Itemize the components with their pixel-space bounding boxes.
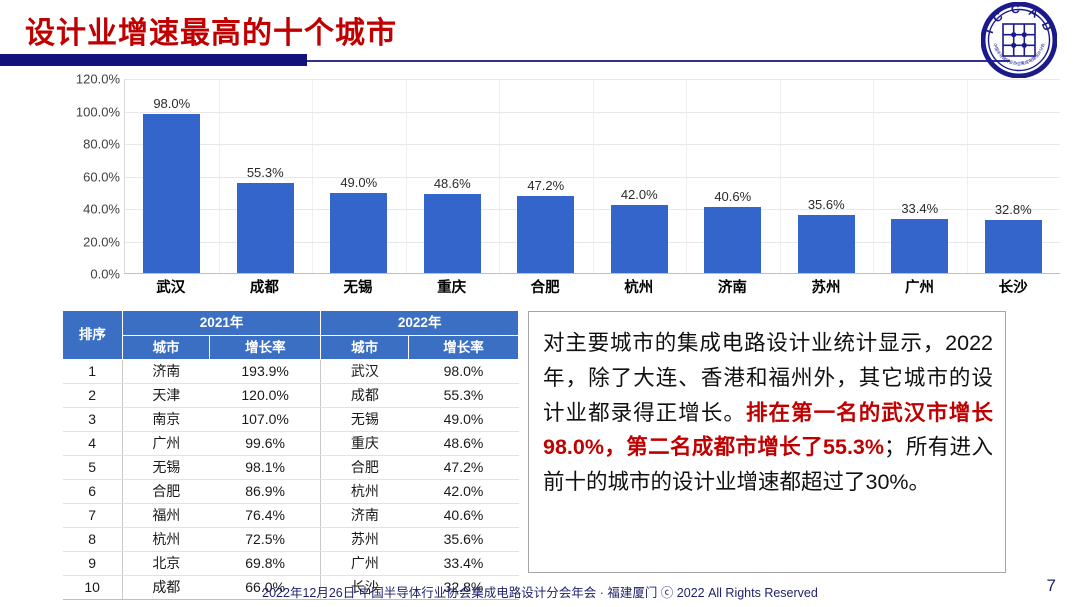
- x-axis-category-label: 杭州: [592, 276, 686, 297]
- table-header-row-2: 城市 增长率 城市 增长率: [63, 335, 519, 360]
- chart-bar-value-label: 48.6%: [434, 176, 471, 191]
- chart-bar-value-label: 33.4%: [901, 201, 938, 216]
- chart-bar-slot: 33.4%: [873, 79, 967, 273]
- x-axis-category-label: 苏州: [779, 276, 873, 297]
- chart-bar-value-label: 47.2%: [527, 178, 564, 193]
- cell-rank: 9: [63, 552, 123, 576]
- cell-city-2022: 武汉: [321, 360, 409, 384]
- table-row: 6合肥86.9%杭州42.0%: [63, 480, 519, 504]
- chart-bar[interactable]: 55.3%: [237, 183, 294, 273]
- y-axis-tick: 40.0%: [83, 202, 120, 217]
- cell-rate-2022: 47.2%: [408, 456, 518, 480]
- chart-bar[interactable]: 33.4%: [891, 219, 948, 273]
- svg-text:I C C A D: I C C A D: [982, 2, 1056, 35]
- chart-bar-value-label: 35.6%: [808, 197, 845, 212]
- page-number: 7: [1047, 576, 1056, 596]
- table-row: 1济南193.9%武汉98.0%: [63, 360, 519, 384]
- cell-rate-2021: 99.6%: [210, 432, 321, 456]
- y-axis-tick: 20.0%: [83, 234, 120, 249]
- cell-city-2021: 天津: [122, 384, 210, 408]
- table-row: 9北京69.8%广州33.4%: [63, 552, 519, 576]
- chart-bar[interactable]: 49.0%: [330, 193, 387, 273]
- chart-bar-slot: 55.3%: [219, 79, 313, 273]
- header-city-2021: 城市: [122, 335, 210, 360]
- y-axis-tick: 0.0%: [90, 267, 120, 282]
- x-axis-labels: 武汉成都无锡重庆合肥杭州济南苏州广州长沙: [124, 276, 1060, 297]
- header-growth-2022: 增长率: [408, 335, 518, 360]
- cell-rank: 3: [63, 408, 123, 432]
- cell-city-2022: 合肥: [321, 456, 409, 480]
- cell-rate-2021: 107.0%: [210, 408, 321, 432]
- table-row: 8杭州72.5%苏州35.6%: [63, 528, 519, 552]
- cell-city-2022: 广州: [321, 552, 409, 576]
- header-rank: 排序: [63, 311, 123, 360]
- x-axis-category-label: 合肥: [498, 276, 592, 297]
- header-rule-thick: [0, 54, 307, 66]
- y-axis-tick: 80.0%: [83, 137, 120, 152]
- x-axis-category-label: 长沙: [966, 276, 1060, 297]
- table-header-row-1: 排序 2021年 2022年: [63, 311, 519, 336]
- chart-bar[interactable]: 48.6%: [424, 194, 481, 273]
- table-row: 5无锡98.1%合肥47.2%: [63, 456, 519, 480]
- y-axis-tick: 120.0%: [76, 72, 120, 87]
- cell-city-2022: 重庆: [321, 432, 409, 456]
- x-axis-category-label: 成都: [218, 276, 312, 297]
- chart-bar-slot: 42.0%: [593, 79, 687, 273]
- chart-bar-value-label: 55.3%: [247, 165, 284, 180]
- cell-rank: 7: [63, 504, 123, 528]
- chart-plot-area: 98.0%55.3%49.0%48.6%47.2%42.0%40.6%35.6%…: [124, 79, 1060, 274]
- cell-rate-2021: 86.9%: [210, 480, 321, 504]
- x-axis-category-label: 无锡: [311, 276, 405, 297]
- y-axis-tick: 100.0%: [76, 104, 120, 119]
- cell-city-2022: 成都: [321, 384, 409, 408]
- cell-rank: 6: [63, 480, 123, 504]
- cell-rate-2022: 98.0%: [408, 360, 518, 384]
- cell-rate-2021: 76.4%: [210, 504, 321, 528]
- chart-bar[interactable]: 42.0%: [611, 205, 668, 273]
- chart-bar[interactable]: 40.6%: [704, 207, 761, 273]
- cell-rank: 1: [63, 360, 123, 384]
- iccad-logo: I C C A D 中国半导体行业协会集成电路设计分会: [981, 2, 1057, 78]
- header-growth-2021: 增长率: [210, 335, 321, 360]
- cell-city-2021: 南京: [122, 408, 210, 432]
- x-axis-category-label: 重庆: [405, 276, 499, 297]
- x-axis-category-label: 武汉: [124, 276, 218, 297]
- x-axis-category-label: 济南: [686, 276, 780, 297]
- cell-city-2021: 无锡: [122, 456, 210, 480]
- cell-rate-2022: 49.0%: [408, 408, 518, 432]
- cell-rate-2021: 98.1%: [210, 456, 321, 480]
- cell-city-2022: 无锡: [321, 408, 409, 432]
- cell-rate-2021: 120.0%: [210, 384, 321, 408]
- cell-city-2021: 杭州: [122, 528, 210, 552]
- cell-rate-2022: 42.0%: [408, 480, 518, 504]
- cell-rate-2022: 35.6%: [408, 528, 518, 552]
- header-year-2022: 2022年: [321, 311, 519, 336]
- chart-bars: 98.0%55.3%49.0%48.6%47.2%42.0%40.6%35.6%…: [125, 79, 1060, 273]
- table-body: 1济南193.9%武汉98.0%2天津120.0%成都55.3%3南京107.0…: [63, 360, 519, 600]
- x-axis-category-label: 广州: [873, 276, 967, 297]
- chart-bar-value-label: 32.8%: [995, 202, 1032, 217]
- cell-rate-2021: 193.9%: [210, 360, 321, 384]
- y-axis-tick: 60.0%: [83, 169, 120, 184]
- table-row: 4广州99.6%重庆48.6%: [63, 432, 519, 456]
- cell-rate-2022: 48.6%: [408, 432, 518, 456]
- cell-city-2021: 合肥: [122, 480, 210, 504]
- chart-bar-value-label: 98.0%: [153, 96, 190, 111]
- cell-city-2021: 北京: [122, 552, 210, 576]
- cell-city-2021: 福州: [122, 504, 210, 528]
- cell-rate-2022: 55.3%: [408, 384, 518, 408]
- chart-bar-value-label: 42.0%: [621, 187, 658, 202]
- chart-bar[interactable]: 32.8%: [985, 220, 1042, 273]
- footer-text: 2022年12月26日 中国半导体行业协会集成电路设计分会年会 · 福建厦门 ⓒ…: [0, 582, 1080, 601]
- cell-rank: 8: [63, 528, 123, 552]
- chart-bar-value-label: 49.0%: [340, 175, 377, 190]
- cell-rank: 2: [63, 384, 123, 408]
- cell-city-2022: 济南: [321, 504, 409, 528]
- header-city-2022: 城市: [321, 335, 409, 360]
- cell-rank: 4: [63, 432, 123, 456]
- cell-rate-2022: 40.6%: [408, 504, 518, 528]
- chart-bar-slot: 32.8%: [967, 79, 1061, 273]
- chart-bar[interactable]: 98.0%: [143, 114, 200, 273]
- table-row: 7福州76.4%济南40.6%: [63, 504, 519, 528]
- chart-bar[interactable]: 35.6%: [798, 215, 855, 273]
- cell-city-2022: 杭州: [321, 480, 409, 504]
- cell-rate-2021: 69.8%: [210, 552, 321, 576]
- header-year-2021: 2021年: [122, 311, 321, 336]
- chart-bar-slot: 47.2%: [499, 79, 593, 273]
- table-row: 2天津120.0%成都55.3%: [63, 384, 519, 408]
- cell-rank: 5: [63, 456, 123, 480]
- chart-bar-value-label: 40.6%: [714, 189, 751, 204]
- growth-bar-chart: 0.0%20.0%40.0%60.0%80.0%100.0%120.0% 98.…: [56, 74, 1060, 302]
- chart-bar[interactable]: 47.2%: [517, 196, 574, 273]
- table-row: 3南京107.0%无锡49.0%: [63, 408, 519, 432]
- chart-bar-slot: 35.6%: [780, 79, 874, 273]
- cell-rate-2022: 33.4%: [408, 552, 518, 576]
- cell-rate-2021: 72.5%: [210, 528, 321, 552]
- ranking-table: 排序 2021年 2022年 城市 增长率 城市 增长率 1济南193.9%武汉…: [62, 310, 519, 600]
- table-head: 排序 2021年 2022年 城市 增长率 城市 增长率: [63, 311, 519, 360]
- page-title: 设计业增速最高的十个城市: [25, 8, 397, 52]
- chart-bar-slot: 98.0%: [125, 79, 219, 273]
- commentary-paragraph: 对主要城市的集成电路设计业统计显示，2022年，除了大连、香港和福州外，其它城市…: [543, 326, 993, 500]
- cell-city-2021: 济南: [122, 360, 210, 384]
- commentary-textbox: 对主要城市的集成电路设计业统计显示，2022年，除了大连、香港和福州外，其它城市…: [528, 311, 1006, 573]
- y-axis-labels: 0.0%20.0%40.0%60.0%80.0%100.0%120.0%: [56, 74, 124, 274]
- cell-city-2021: 广州: [122, 432, 210, 456]
- cell-city-2022: 苏州: [321, 528, 409, 552]
- chart-bar-slot: 49.0%: [312, 79, 406, 273]
- chart-bar-slot: 40.6%: [686, 79, 780, 273]
- slide-root: 设计业增速最高的十个城市 I C C A D: [0, 0, 1080, 607]
- chart-bar-slot: 48.6%: [406, 79, 500, 273]
